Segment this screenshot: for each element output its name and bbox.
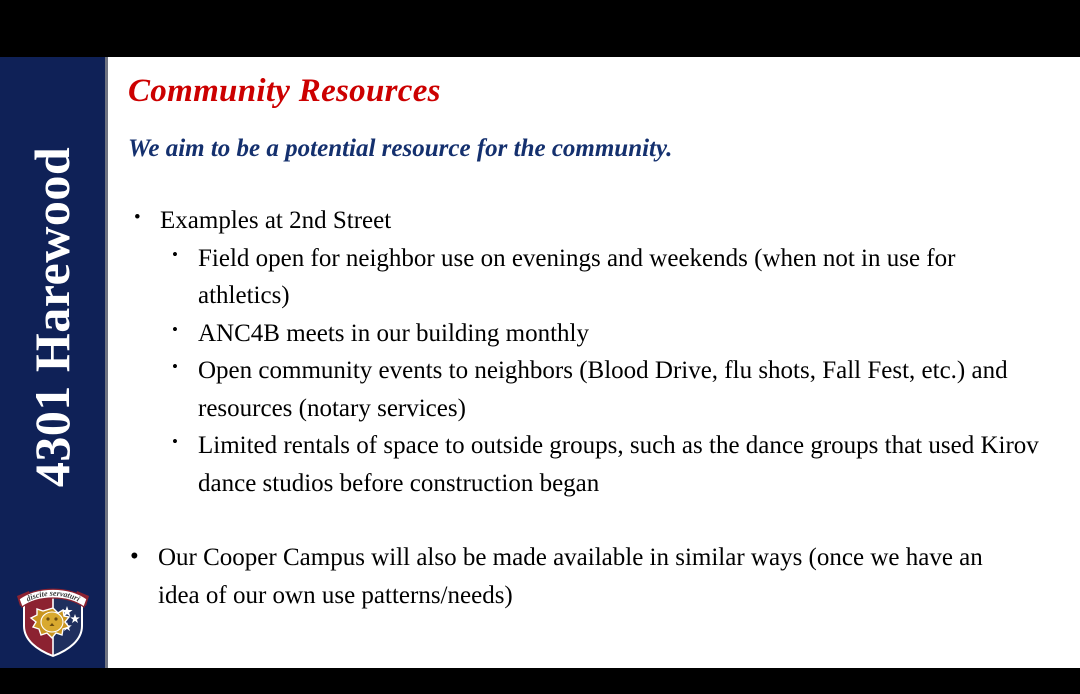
slide-subtitle: We aim to be a potential resource for th… (128, 135, 672, 163)
bullet-marker-icon: • (172, 315, 198, 346)
slide-letterbox-frame: 4301 Harewood (0, 0, 1080, 694)
sidebar-title-container: 4301 Harewood (0, 57, 105, 577)
list-item-text: Field open for neighbor use on evenings … (198, 240, 1043, 315)
list-item: • Examples at 2nd Street (112, 202, 1080, 240)
sidebar-panel: 4301 Harewood (0, 57, 105, 668)
bullet-marker-icon: • (134, 202, 160, 235)
slide-content-area: Community Resources We aim to be a poten… (112, 57, 1080, 668)
crest-lion-eye-right (54, 617, 57, 620)
slide-title: Community Resources (128, 73, 441, 109)
crest-lion-eye-left (46, 617, 49, 620)
list-item: • Field open for neighbor use on evening… (112, 240, 1080, 315)
list-item-text: Examples at 2nd Street (160, 202, 1040, 240)
bullet-marker-icon: • (130, 539, 158, 575)
list-item-text: Limited rentals of space to outside grou… (198, 427, 1043, 502)
list-item: • ANC4B meets in our building monthly (112, 315, 1080, 353)
list-item: • Limited rentals of space to outside gr… (112, 427, 1080, 502)
bullet-marker-icon: • (172, 352, 198, 383)
list-item-text: ANC4B meets in our building monthly (198, 315, 1043, 353)
sidebar-vertical-title: 4301 Harewood (28, 147, 78, 487)
list-item: • Open community events to neighbors (Bl… (112, 352, 1080, 427)
bullet-list: • Examples at 2nd Street • Field open fo… (112, 202, 1080, 614)
school-crest-logo: discite servaturi (7, 582, 99, 664)
presentation-slide: 4301 Harewood (0, 57, 1080, 668)
bullet-marker-icon: • (172, 427, 198, 458)
crest-lion-face (41, 612, 63, 632)
list-item-text: Our Cooper Campus will also be made avai… (158, 539, 1030, 614)
list-item-text: Open community events to neighbors (Bloo… (198, 352, 1043, 427)
bullet-marker-icon: • (172, 240, 198, 271)
list-item: • Our Cooper Campus will also be made av… (112, 539, 1080, 614)
